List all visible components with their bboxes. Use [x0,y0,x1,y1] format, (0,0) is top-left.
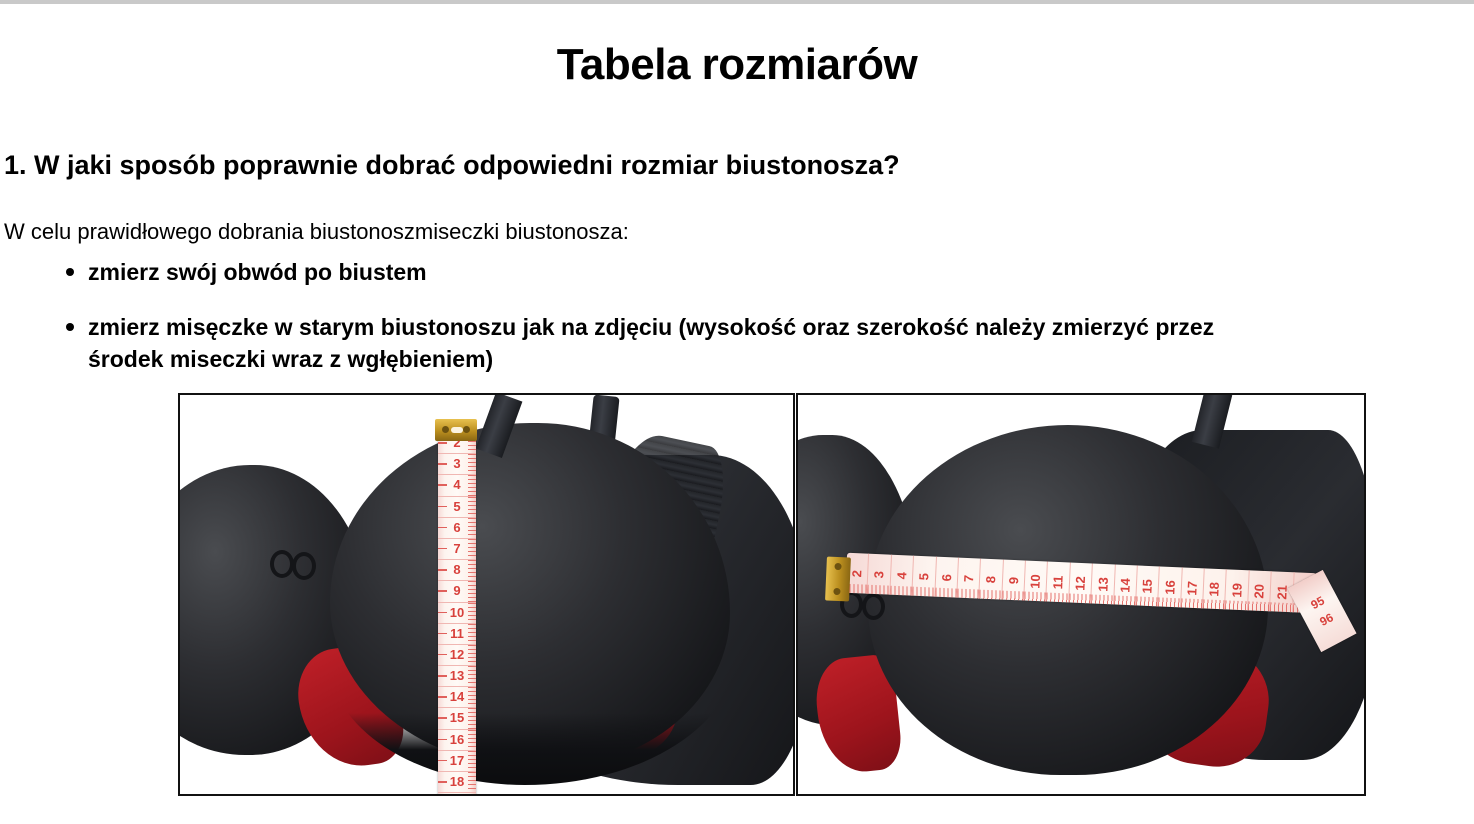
tape-tick: 8 [980,559,1004,600]
tape-tick: 15 [1136,565,1160,606]
tape-tick: 20 [1248,570,1272,611]
tape-tick: 6 [935,557,959,598]
tape-tick: 14 [438,687,476,708]
tape-tick: 15 [438,708,476,729]
tape-tick: 13 [1092,564,1116,605]
photo-width-measurement: 2345678910111213141516171819202122 9596 [796,393,1366,796]
tape-tick: 10 [1025,561,1049,602]
tape-tick: 12 [1069,563,1093,604]
tape-tick: 19 [1226,569,1250,610]
tape-tick: 96 [1317,610,1335,629]
tape-tick: 16 [1159,566,1183,607]
tape-tick: 4 [891,555,915,596]
bra-photo-right-scene: 2345678910111213141516171819202122 9596 [798,395,1364,794]
tape-tick: 3 [438,454,476,475]
measuring-tape-vertical: 23456789101112131415161718 [438,433,476,796]
list-item-line-1: zmierz misęczke w starym biustonoszu jak… [88,311,1464,343]
measuring-tape-metal-tip-icon [435,419,477,441]
tape-tick: 5 [913,556,937,597]
tape-tick: 5 [438,497,476,518]
tape-tick: 6 [438,518,476,539]
tape-tick: 16 [438,730,476,751]
tape-tick: 10 [438,603,476,624]
list-item: zmierz swój obwód po biustem [4,256,1464,288]
bullet-dot-icon [66,323,74,331]
tape-tick: 8 [438,560,476,581]
tape-tick: 17 [438,751,476,772]
tape-tick: 18 [1203,568,1227,609]
measurement-photos: 23456789101112131415161718 2345678910111… [178,393,1366,796]
section-heading: 1. W jaki sposób poprawnie dobrać odpowi… [4,148,900,182]
tape-tick: 7 [958,558,982,599]
bullet-dot-icon [66,268,74,276]
tape-tick: 7 [438,539,476,560]
page-title: Tabela rozmiarów [0,37,1474,93]
tape-tick: 11 [438,624,476,645]
tape-tick: 9 [1002,560,1026,601]
measuring-tape-metal-tip-icon [826,556,852,601]
tape-tick: 18 [438,772,476,793]
tape-tick: 9 [438,581,476,602]
bra-hook-icon [292,552,316,580]
intro-paragraph: W celu prawidłowego dobrania biustonoszm… [4,217,629,247]
bra-photo-left-scene: 23456789101112131415161718 [180,395,793,794]
bra-hook-icon [270,550,294,578]
tape-tick: 17 [1181,567,1205,608]
tape-tick: 14 [1114,564,1138,605]
tape-tick: 95 [1308,593,1326,612]
instruction-list: zmierz swój obwód po biustem zmierz misę… [4,256,1464,398]
photo-height-measurement: 23456789101112131415161718 [178,393,795,796]
tape-tick: 12 [438,645,476,666]
list-item: zmierz misęczke w starym biustonoszu jak… [4,311,1464,375]
tape-tick: 13 [438,666,476,687]
tape-tick: 11 [1047,562,1071,603]
list-item-line-1: zmierz swój obwód po biustem [88,256,1464,288]
tape-tick: 3 [868,554,892,595]
tape-tick: 4 [438,475,476,496]
list-item-line-2: środek miseczki wraz z wgłębieniem) [88,343,1464,375]
size-chart-page: Tabela rozmiarów 1. W jaki sposób popraw… [0,0,1474,824]
